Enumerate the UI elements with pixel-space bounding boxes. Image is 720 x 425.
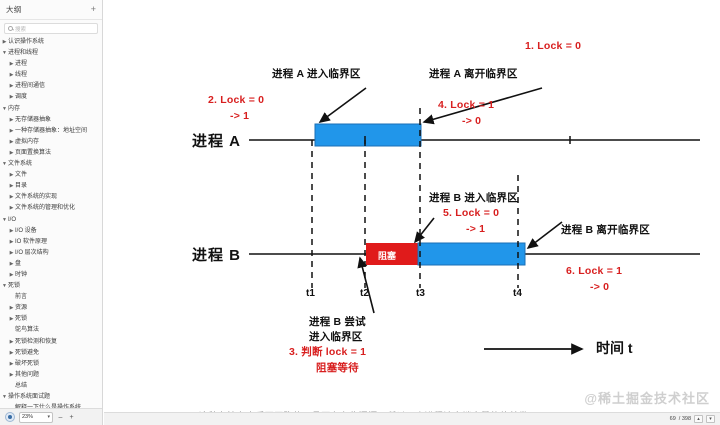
outline-item-label: 前言: [15, 292, 27, 303]
outline-item[interactable]: ▶进程间通信: [0, 81, 102, 92]
step-2-lock-line1: 2. Lock = 0: [208, 94, 264, 106]
outline-item-label: 资源: [15, 303, 27, 314]
chevron-right-icon[interactable]: ▶: [8, 59, 15, 70]
tick-label-t4: t4: [513, 288, 522, 299]
chevron-down-icon[interactable]: ▼: [1, 392, 8, 403]
outline-item[interactable]: ▶线程: [0, 70, 102, 81]
outline-item-label: 文件: [15, 170, 27, 181]
outline-item[interactable]: ▶死锁检测和恢复: [0, 337, 102, 348]
process-b-critical-bar: [418, 243, 525, 265]
outline-item[interactable]: ▶其他问题: [0, 370, 102, 381]
outline-item[interactable]: ▶死锁: [0, 314, 102, 325]
total-page-count: / 398: [679, 416, 691, 422]
outline-item-label: 时钟: [15, 270, 27, 281]
leader-b-enter: [415, 218, 434, 242]
blocked-bar-label: 阻塞: [378, 249, 396, 262]
tick-label-t1: t1: [306, 288, 315, 299]
outline-item[interactable]: ▶虚拟内存: [0, 137, 102, 148]
outline-item[interactable]: ▶调度: [0, 92, 102, 103]
chevron-right-icon[interactable]: ▶: [8, 270, 15, 281]
chevron-right-icon[interactable]: ▶: [8, 248, 15, 259]
sidebar-header: 大纲 +: [0, 0, 102, 20]
zoom-in-button[interactable]: +: [68, 414, 75, 421]
chevron-right-icon[interactable]: ▶: [8, 348, 15, 359]
outline-item-label: 页面置换算法: [15, 148, 51, 159]
outline-item[interactable]: ▶文件: [0, 170, 102, 181]
chevron-right-icon[interactable]: ▶: [8, 70, 15, 81]
outline-tree[interactable]: ▶认识操作系统▼进程和线程▶进程▶线程▶进程间通信▶调度▼内存▶无存储器抽象▶一…: [0, 36, 102, 408]
outline-item-label: 无存储器抽象: [15, 115, 51, 126]
watermark: @稀土掘金技术社区: [584, 388, 710, 407]
chevron-right-icon[interactable]: ▶: [8, 337, 15, 348]
current-page-number[interactable]: 69: [670, 416, 676, 422]
view-mode-icon[interactable]: [5, 412, 15, 422]
step-3-judge-line1: 3. 判断 lock = 1: [289, 344, 366, 359]
outline-item[interactable]: ▼内存: [0, 104, 102, 115]
prev-page-button[interactable]: ▴: [694, 415, 703, 423]
outline-item-label: 操作系统面试题: [8, 392, 50, 403]
outline-item-label: 总结: [15, 381, 27, 392]
time-axis-label: 时间 t: [596, 338, 633, 358]
tick-label-t3: t3: [416, 288, 425, 299]
chevron-right-icon[interactable]: ▶: [8, 226, 15, 237]
leader-b-leave: [528, 222, 562, 248]
outline-item[interactable]: ▶IO 软件原理: [0, 237, 102, 248]
outline-item[interactable]: ▶文件系统的实现: [0, 192, 102, 203]
step-4-lock-line2: -> 0: [462, 115, 481, 127]
process-a-name: 进程 A: [192, 130, 241, 151]
outline-item[interactable]: ▶I/O 层次结构: [0, 248, 102, 259]
outline-item-label: 死锁避免: [15, 348, 39, 359]
document-footer: 69 / 398 ▴ ▾: [104, 412, 720, 425]
outline-item[interactable]: ▶盘: [0, 259, 102, 270]
chevron-down-icon[interactable]: ▼: [1, 215, 8, 226]
outline-item-label: 认识操作系统: [8, 37, 44, 48]
outline-item[interactable]: 鸵鸟算法: [0, 325, 102, 336]
chevron-right-icon[interactable]: ▶: [8, 137, 15, 148]
caption-a-leave: 进程 A 离开临界区: [429, 66, 518, 81]
step-5-lock-line2: -> 1: [466, 223, 485, 235]
app-window: 大纲 + 搜索 ▶认识操作系统▼进程和线程▶进程▶线程▶进程间通信▶调度▼内存▶…: [0, 0, 720, 425]
outline-item[interactable]: ▼进程和线程: [0, 48, 102, 59]
process-a-critical-bar: [315, 124, 421, 146]
sidebar-title: 大纲: [6, 4, 22, 15]
outline-item[interactable]: ▼死锁: [0, 281, 102, 292]
caption-b-try-line2: 进入临界区: [309, 329, 363, 344]
outline-item[interactable]: ▶目录: [0, 181, 102, 192]
outline-item-label: 死锁: [15, 314, 27, 325]
outline-item-label: 调度: [15, 92, 27, 103]
step-6-lock-line2: -> 0: [590, 281, 609, 293]
outline-item-label: 文件系统: [8, 159, 32, 170]
step-2-lock-line2: -> 1: [230, 110, 249, 122]
outline-item-label: 进程间通信: [15, 81, 45, 92]
chevron-down-icon[interactable]: ▼: [1, 159, 8, 170]
outline-item-label: 内存: [8, 104, 20, 115]
tick-label-t2: t2: [360, 288, 369, 299]
outline-item[interactable]: ▶I/O 设备: [0, 226, 102, 237]
outline-item[interactable]: ▼I/O: [0, 215, 102, 226]
caption-b-enter: 进程 B 进入临界区: [429, 190, 518, 205]
chevron-right-icon[interactable]: ▶: [8, 126, 15, 137]
chevron-right-icon[interactable]: ▶: [8, 115, 15, 126]
zoom-value: 23%: [22, 414, 33, 420]
chevron-right-icon[interactable]: ▶: [8, 181, 15, 192]
outline-item-label: I/O 设备: [15, 226, 37, 237]
outline-item[interactable]: 总结: [0, 381, 102, 392]
outline-item-label: 解释一下什么是操作系统: [15, 403, 81, 408]
process-b-name: 进程 B: [192, 244, 241, 265]
outline-item[interactable]: ▼操作系统面试题: [0, 392, 102, 403]
outline-item-label: 进程和线程: [8, 48, 38, 59]
zoom-out-button[interactable]: –: [57, 414, 64, 421]
diagram-vector-layer: [104, 0, 720, 425]
chevron-right-icon[interactable]: ▶: [8, 148, 15, 159]
outline-item[interactable]: ▶一种存储器抽象：地址空间: [0, 126, 102, 137]
leader-a-enter: [320, 88, 366, 122]
outline-item[interactable]: ▶时钟: [0, 270, 102, 281]
caption-b-leave: 进程 B 离开临界区: [561, 222, 650, 237]
leader-b-try: [360, 258, 374, 313]
outline-item[interactable]: ▶文件系统的管理和优化: [0, 203, 102, 214]
outline-item[interactable]: ▶无存储器抽象: [0, 115, 102, 126]
outline-item-label: 进程: [15, 59, 27, 70]
add-outline-button[interactable]: +: [91, 5, 96, 14]
outline-item-label: 鸵鸟算法: [15, 325, 39, 336]
chevron-down-icon[interactable]: ▼: [1, 48, 8, 59]
chevron-down-icon: ▾: [47, 414, 50, 420]
chevron-right-icon[interactable]: ▶: [8, 81, 15, 92]
outline-item-label: 目录: [15, 181, 27, 192]
chevron-right-icon[interactable]: ▶: [1, 37, 8, 48]
next-page-button[interactable]: ▾: [706, 415, 715, 423]
chevron-down-icon[interactable]: ▼: [1, 104, 8, 115]
document-viewer[interactable]: 进程 A 进程 B 阻塞 进程 A 进入临界区 进程 A 离开临界区 进程 B …: [104, 0, 720, 425]
step-4-lock-line1: 4. Lock = 1: [438, 99, 494, 111]
chevron-right-icon[interactable]: ▶: [8, 170, 15, 181]
outline-item[interactable]: 解释一下什么是操作系统: [0, 403, 102, 408]
chevron-right-icon[interactable]: ▶: [8, 314, 15, 325]
chevron-right-icon[interactable]: ▶: [8, 359, 15, 370]
zoom-select[interactable]: 23% ▾: [19, 412, 53, 423]
outline-sidebar: 大纲 + 搜索 ▶认识操作系统▼进程和线程▶进程▶线程▶进程间通信▶调度▼内存▶…: [0, 0, 103, 425]
search-input-placeholder: 搜索: [15, 25, 26, 33]
outline-item-label: 文件系统的实现: [15, 192, 57, 203]
outline-item[interactable]: ▶资源: [0, 303, 102, 314]
step-1-lock: 1. Lock = 0: [525, 40, 581, 52]
chevron-right-icon[interactable]: ▶: [8, 237, 15, 248]
chevron-down-icon[interactable]: ▼: [1, 281, 8, 292]
outline-item[interactable]: 前言: [0, 292, 102, 303]
outline-item[interactable]: ▶认识操作系统: [0, 37, 102, 48]
caption-a-enter: 进程 A 进入临界区: [272, 66, 361, 81]
chevron-right-icon[interactable]: ▶: [8, 192, 15, 203]
chevron-right-icon[interactable]: ▶: [8, 92, 15, 103]
outline-item[interactable]: ▶死锁避免: [0, 348, 102, 359]
sidebar-footer: 23% ▾ – +: [0, 408, 102, 425]
outline-item-label: 一种存储器抽象：地址空间: [15, 126, 87, 137]
sidebar-search-box[interactable]: 搜索: [4, 23, 98, 34]
outline-item-label: 文件系统的管理和优化: [15, 203, 75, 214]
chevron-right-icon[interactable]: ▶: [8, 203, 15, 214]
diagram-canvas: 进程 A 进程 B 阻塞 进程 A 进入临界区 进程 A 离开临界区 进程 B …: [104, 0, 720, 425]
outline-item-label: 破坏死锁: [15, 359, 39, 370]
step-6-lock-line1: 6. Lock = 1: [566, 265, 622, 277]
search-icon: [8, 26, 13, 31]
outline-item-label: IO 软件原理: [15, 237, 47, 248]
caption-b-try-line1: 进程 B 尝试: [309, 314, 366, 329]
chevron-right-icon[interactable]: ▶: [8, 259, 15, 270]
chevron-right-icon[interactable]: ▶: [8, 370, 15, 381]
outline-item[interactable]: ▶进程: [0, 59, 102, 70]
outline-item-label: 死锁: [8, 281, 20, 292]
step-5-lock-line1: 5. Lock = 0: [443, 207, 499, 219]
outline-item-label: 其他问题: [15, 370, 39, 381]
outline-item-label: I/O: [8, 215, 16, 226]
outline-item-label: 虚拟内存: [15, 137, 39, 148]
outline-item-label: 线程: [15, 70, 27, 81]
outline-item-label: 死锁检测和恢复: [15, 337, 57, 348]
outline-item[interactable]: ▶破坏死锁: [0, 359, 102, 370]
outline-item[interactable]: ▶页面置换算法: [0, 148, 102, 159]
outline-item[interactable]: ▼文件系统: [0, 159, 102, 170]
outline-item-label: 盘: [15, 259, 21, 270]
outline-item-label: I/O 层次结构: [15, 248, 49, 259]
step-3-judge-line2: 阻塞等待: [316, 360, 359, 375]
chevron-right-icon[interactable]: ▶: [8, 303, 15, 314]
